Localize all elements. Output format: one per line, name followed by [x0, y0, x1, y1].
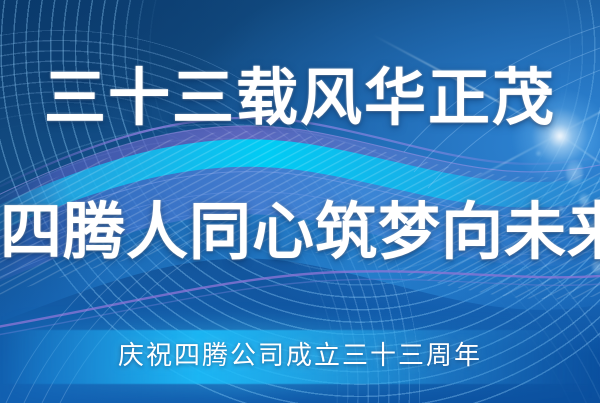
headline-secondary: 四腾人同心筑梦向未来	[0, 196, 600, 268]
subtitle-text: 庆祝四腾公司成立三十三周年	[0, 336, 600, 376]
anniversary-banner: 三十三载风华正茂 四腾人同心筑梦向未来 庆祝四腾公司成立三十三周年	[0, 0, 600, 403]
headline-primary: 三十三载风华正茂	[0, 62, 600, 134]
banner-text-content: 三十三载风华正茂 四腾人同心筑梦向未来 庆祝四腾公司成立三十三周年	[0, 0, 600, 403]
